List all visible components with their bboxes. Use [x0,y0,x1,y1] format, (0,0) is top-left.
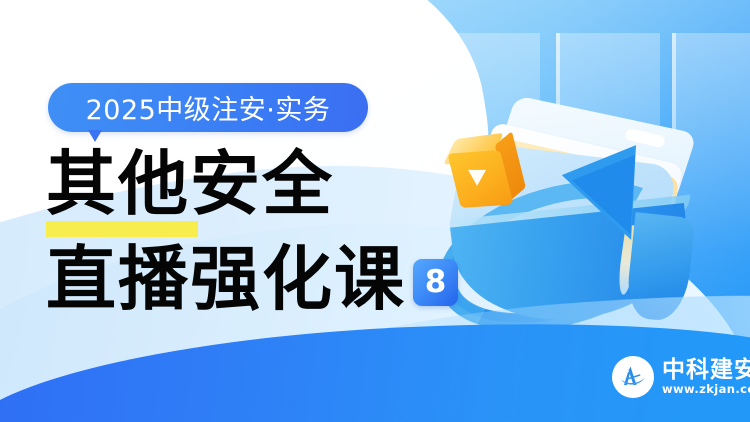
brand-name: 中科建安 [662,359,750,382]
brand-logo[interactable]: 中科建安 www.zkjan.com [612,356,750,398]
course-badge: 2025中级注安·实务 [48,83,368,132]
brand-url: www.zkjan.com [662,384,750,396]
course-badge-label: 2025中级注安·实务 [86,88,331,127]
episode-badge: 8 [413,259,458,306]
play-triangle-icon [468,170,486,186]
title-line-2-row: 直播强化课 8 [46,245,458,314]
course-badge-pill: 2025中级注安·实务 [48,83,368,132]
brand-text: 中科建安 www.zkjan.com [662,359,750,396]
title-line-2: 直播强化课 [46,245,406,314]
course-banner: 2025中级注安·实务 其他安全 直播强化课 8 中科建安 www.zkjan.… [0,0,750,422]
episode-number: 8 [425,267,447,298]
course-badge-tail [88,130,102,142]
zkjan-logo-icon [612,356,654,398]
title-line-1: 其他安全 [46,150,458,219]
page-title: 其他安全 直播强化课 8 [46,150,458,313]
